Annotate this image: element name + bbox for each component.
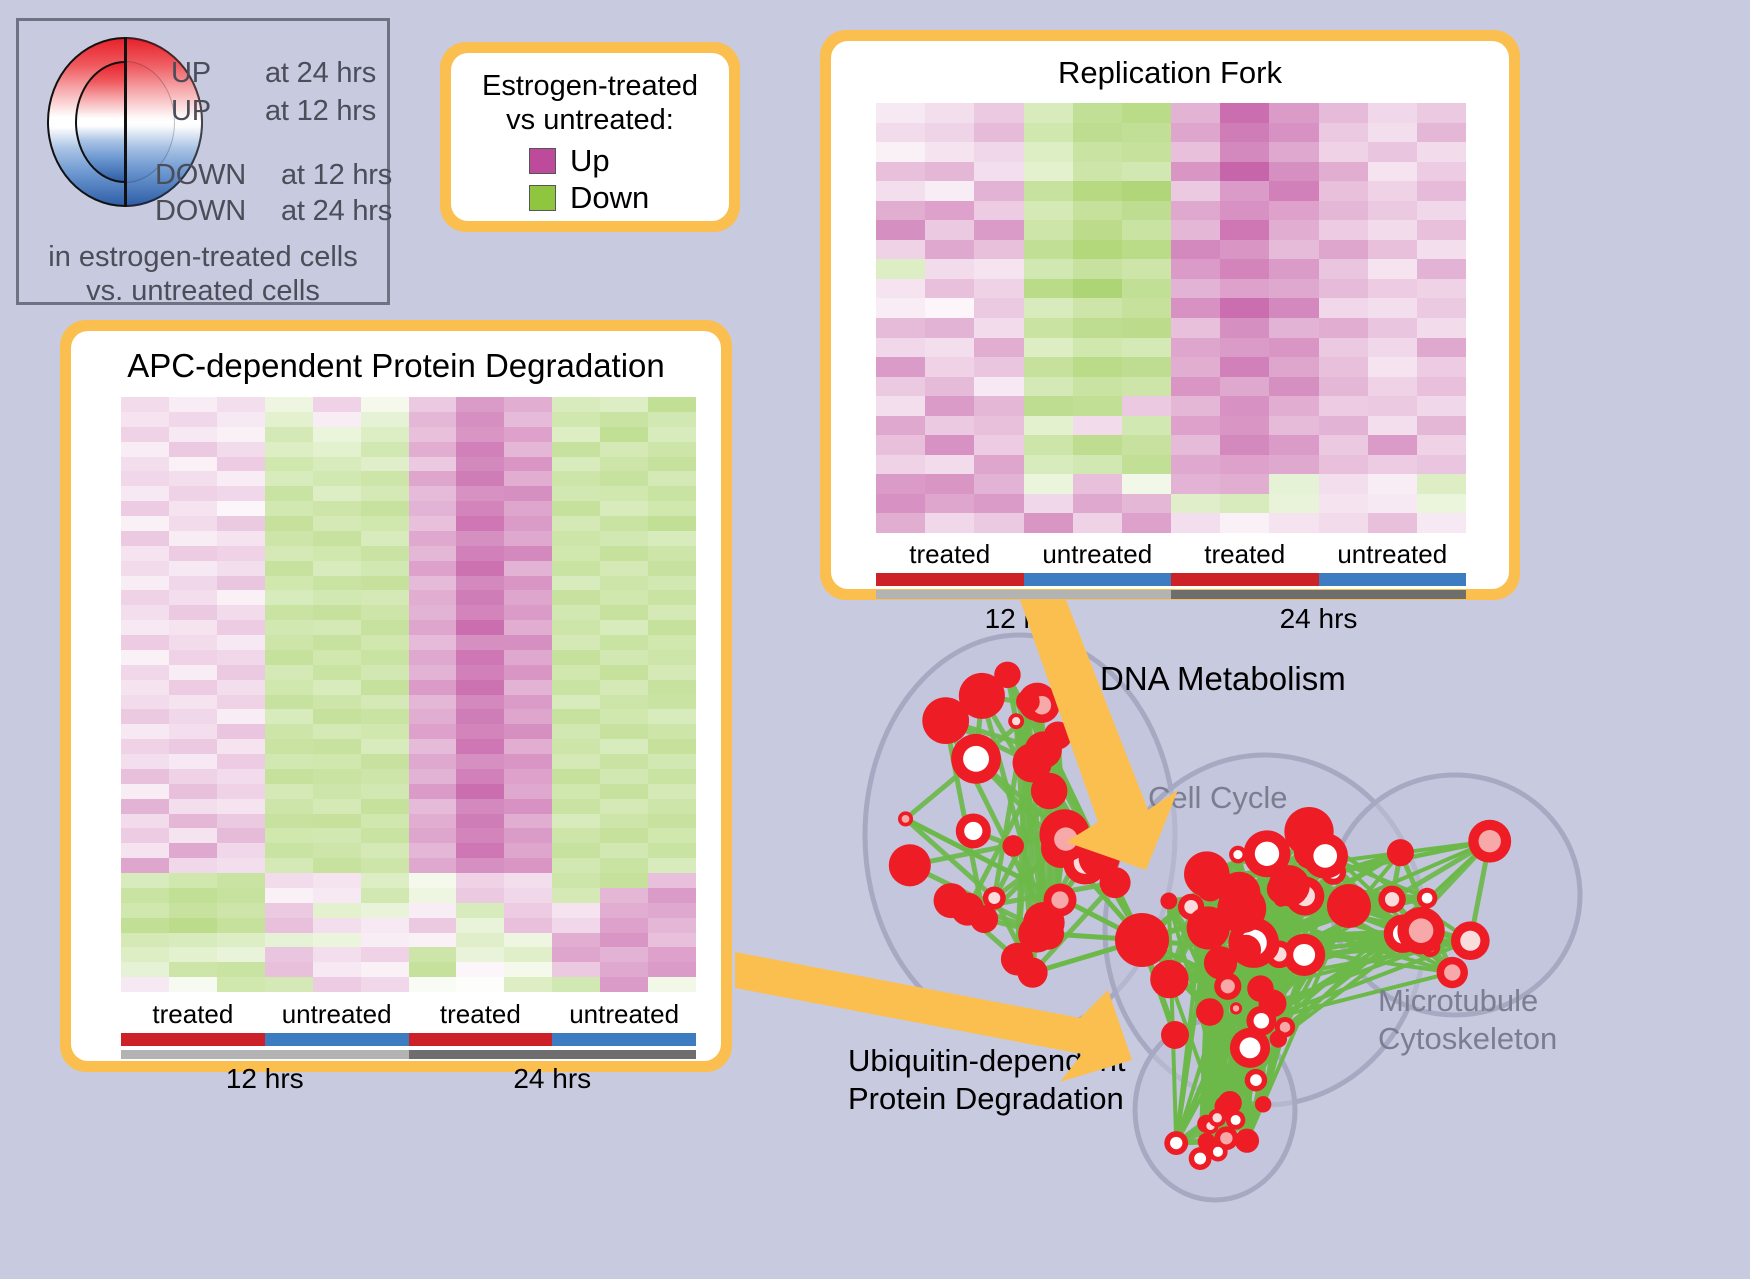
heatmap-cell xyxy=(409,873,457,888)
heatmap-cell xyxy=(552,784,600,799)
heatmap-cell xyxy=(1073,338,1122,358)
heatmap-cell xyxy=(1073,123,1122,143)
heatmap-cell xyxy=(361,665,409,680)
network-node-core xyxy=(1259,1100,1268,1109)
heatmap-cell xyxy=(504,873,552,888)
network-node-core xyxy=(1221,979,1235,993)
heatmap-cell xyxy=(361,724,409,739)
heatmap-cell xyxy=(313,814,361,829)
heatmap-cell xyxy=(648,590,696,605)
heatmap-cell xyxy=(1122,494,1171,514)
heatmap-cell xyxy=(1024,240,1073,260)
network-node-core xyxy=(1040,782,1059,801)
heatmap-cell xyxy=(974,162,1023,182)
heatmap-cell xyxy=(265,680,313,695)
heatmap-cell xyxy=(648,442,696,457)
heatmap-cell xyxy=(600,576,648,591)
heatmap-cell xyxy=(456,471,504,486)
heatmap-cell xyxy=(169,799,217,814)
heatmap-cell xyxy=(361,397,409,412)
heatmap-cell xyxy=(456,635,504,650)
heatmap-cell xyxy=(121,442,169,457)
heatmap-cell xyxy=(925,455,974,475)
heatmap-cell xyxy=(925,220,974,240)
heatmap-cell xyxy=(409,754,457,769)
heatmap-cell xyxy=(121,814,169,829)
heatmap-cell xyxy=(313,397,361,412)
network-node xyxy=(1017,958,1047,988)
heatmap-cell xyxy=(600,471,648,486)
heatmap-cell xyxy=(1122,338,1171,358)
heatmap-cell xyxy=(552,709,600,724)
heatmap-cell xyxy=(974,103,1023,123)
timepoint-labels-apc: 12 hrs 24 hrs xyxy=(121,1063,696,1095)
heatmap-cell xyxy=(504,486,552,501)
heatmap-cell xyxy=(552,873,600,888)
heatmap-cell xyxy=(600,799,648,814)
heatmap-cell xyxy=(648,695,696,710)
heatmap-cell xyxy=(409,962,457,977)
heatmap-cell xyxy=(925,435,974,455)
heatmap-cell xyxy=(121,724,169,739)
heatmap-cell xyxy=(121,650,169,665)
heatmap-cell xyxy=(217,531,265,546)
heatmap-cell xyxy=(169,620,217,635)
heatmap-cell xyxy=(409,427,457,442)
heatmap-cell xyxy=(409,769,457,784)
heatmap-cell xyxy=(265,605,313,620)
updown-legend-title-line2: vs untreated: xyxy=(451,103,729,137)
heatmap-cell xyxy=(600,947,648,962)
heatmap-cell xyxy=(361,947,409,962)
heatmap-cell xyxy=(456,843,504,858)
heatmap-cell xyxy=(361,814,409,829)
heatmap-cell xyxy=(409,516,457,531)
heatmap-cell xyxy=(1269,318,1318,338)
heatmap-cell xyxy=(1319,259,1368,279)
heatmap-cell xyxy=(1024,162,1073,182)
heatmap-cell xyxy=(1220,259,1269,279)
heatmap-cell xyxy=(876,318,925,338)
legend-item-down: Down xyxy=(529,180,729,216)
network-node xyxy=(922,697,969,744)
heatmap-cell xyxy=(361,620,409,635)
heatmap-cell xyxy=(217,501,265,516)
heatmap-cell xyxy=(409,471,457,486)
heatmap-cell xyxy=(552,605,600,620)
heatmap-cell xyxy=(974,435,1023,455)
network-node xyxy=(1274,893,1288,907)
heatmap-cell xyxy=(217,457,265,472)
network-node-core xyxy=(1254,1013,1269,1028)
heatmap-cell xyxy=(600,828,648,843)
heatmap-cell xyxy=(169,412,217,427)
heatmap-cell xyxy=(1368,181,1417,201)
heatmap-cell xyxy=(552,457,600,472)
heatmap-cell xyxy=(1220,396,1269,416)
heatmap-cell xyxy=(1171,259,1220,279)
heatmap-cell xyxy=(504,397,552,412)
heatmap-cell xyxy=(217,427,265,442)
heatmap-cell xyxy=(361,918,409,933)
heatmap-cell xyxy=(313,903,361,918)
heatmap-cell xyxy=(265,516,313,531)
heatmap-cell xyxy=(552,576,600,591)
heatmap-cell xyxy=(1073,181,1122,201)
heatmap-cell xyxy=(456,531,504,546)
network-node-core xyxy=(1054,827,1077,850)
heatmap-cell xyxy=(1171,338,1220,358)
heatmap-cell xyxy=(600,516,648,531)
heatmap-cell xyxy=(1417,201,1466,221)
network-node-core xyxy=(1479,830,1501,852)
heatmap-cell xyxy=(1368,240,1417,260)
heatmap-cell xyxy=(1024,513,1073,533)
heatmap-cell xyxy=(361,784,409,799)
heatmap-cell xyxy=(121,620,169,635)
heatmap-cell xyxy=(265,531,313,546)
heatmap-cell xyxy=(600,858,648,873)
heatmap-cell xyxy=(648,412,696,427)
heatmap-cell xyxy=(925,240,974,260)
heatmap-cell xyxy=(313,531,361,546)
heatmap-cell xyxy=(409,620,457,635)
network-node-core xyxy=(1194,1153,1206,1165)
heatmap-cell xyxy=(217,486,265,501)
heatmap-cell xyxy=(121,888,169,903)
heatmap-cell xyxy=(552,680,600,695)
heatmap-cell xyxy=(1073,259,1122,279)
heatmap-cell xyxy=(1269,162,1318,182)
heatmap-cell xyxy=(217,695,265,710)
network-node-core xyxy=(1255,842,1279,866)
heatmap-cell xyxy=(1319,357,1368,377)
heatmap-cell xyxy=(217,516,265,531)
heatmap-cell xyxy=(876,201,925,221)
heatmap-cell xyxy=(925,142,974,162)
heatmap-cell xyxy=(876,338,925,358)
heatmap-cell xyxy=(409,947,457,962)
heatmap-cell xyxy=(1073,142,1122,162)
heatmap-cell xyxy=(1269,455,1318,475)
heatmap-cell xyxy=(217,442,265,457)
timepoint-color-bar-replication-fork xyxy=(876,590,1466,599)
network-node-core xyxy=(1385,892,1399,906)
heatmap-cell xyxy=(409,605,457,620)
heatmap-cell xyxy=(552,918,600,933)
heatmap-cell xyxy=(313,799,361,814)
network-node-core xyxy=(1337,895,1360,918)
heatmap-cell xyxy=(265,412,313,427)
heatmap-cell xyxy=(552,427,600,442)
network-node-core xyxy=(1012,717,1020,725)
network-node-core xyxy=(1001,668,1015,682)
heatmap-cell xyxy=(169,650,217,665)
heatmap-cell xyxy=(925,416,974,436)
network-node xyxy=(1002,835,1023,856)
heatmap-cell xyxy=(600,546,648,561)
heatmap-cell xyxy=(925,377,974,397)
heatmap-cell xyxy=(313,933,361,948)
heatmap-cell xyxy=(217,858,265,873)
heatmap-cell xyxy=(876,298,925,318)
heatmap-cell xyxy=(361,962,409,977)
heatmap-cell xyxy=(313,962,361,977)
heatmap-cell xyxy=(552,635,600,650)
heatmap-cell xyxy=(313,635,361,650)
heatmap-cell xyxy=(456,888,504,903)
heatmap-cell xyxy=(552,471,600,486)
cluster-label-cell-cycle: Cell Cycle xyxy=(1148,780,1288,816)
heatmap-cell xyxy=(409,501,457,516)
heatmap-cell xyxy=(504,576,552,591)
heatmap-cell xyxy=(1417,494,1466,514)
heatmap-cell xyxy=(265,754,313,769)
ring-divider-line xyxy=(124,37,127,207)
heatmap-cell xyxy=(1171,435,1220,455)
heatmap-cell xyxy=(1024,435,1073,455)
heatmap-cell xyxy=(504,918,552,933)
heatmap-cell xyxy=(169,754,217,769)
heatmap-cell xyxy=(925,201,974,221)
cond-bar-rf-treated-24 xyxy=(1171,573,1319,586)
heatmap-cell xyxy=(1073,474,1122,494)
heatmap-cell xyxy=(1171,123,1220,143)
heatmap-cell xyxy=(1368,220,1417,240)
heatmap-cell xyxy=(600,918,648,933)
heatmap-cell xyxy=(1171,162,1220,182)
heatmap-cell xyxy=(1171,181,1220,201)
updown-legend-panel: Estrogen-treated vs untreated: Up Down xyxy=(440,42,740,232)
heatmap-cell xyxy=(456,665,504,680)
heatmap-cell xyxy=(1269,259,1318,279)
network-node-core xyxy=(1213,1147,1223,1157)
heatmap-cell xyxy=(313,843,361,858)
heatmap-cell xyxy=(313,680,361,695)
heatmap-cell xyxy=(409,650,457,665)
ring-label-down-24: DOWN xyxy=(155,195,246,228)
network-node xyxy=(1196,998,1224,1026)
heatmap-cell xyxy=(169,947,217,962)
heatmap-cell xyxy=(552,843,600,858)
heatmap-cell xyxy=(1122,181,1171,201)
heatmap-cell xyxy=(1171,201,1220,221)
heatmap-cell xyxy=(504,724,552,739)
heatmap-cell xyxy=(1073,494,1122,514)
heatmap-cell xyxy=(217,471,265,486)
cond-bar-apc-untreated-12 xyxy=(265,1033,409,1046)
heatmap-cell xyxy=(1269,123,1318,143)
heatmap-cell xyxy=(600,650,648,665)
heatmap-cell xyxy=(648,814,696,829)
heatmap-cell xyxy=(361,888,409,903)
heatmap-cell xyxy=(121,590,169,605)
network-node-core xyxy=(1233,1005,1239,1011)
heatmap-cell xyxy=(600,888,648,903)
updown-legend-title-line1: Estrogen-treated xyxy=(451,69,729,103)
heatmap-cell xyxy=(361,754,409,769)
heatmap-cell xyxy=(456,724,504,739)
heatmap-cell xyxy=(1319,396,1368,416)
time-bar-apc-24hrs xyxy=(409,1050,697,1059)
heatmap-cell xyxy=(121,843,169,858)
heatmap-cell xyxy=(1073,279,1122,299)
heatmap-cell xyxy=(313,665,361,680)
heatmap-cell xyxy=(265,635,313,650)
pathway-network-diagram xyxy=(790,610,1750,1279)
heatmap-cell xyxy=(925,279,974,299)
heatmap-cell xyxy=(265,888,313,903)
heatmap-cell xyxy=(265,546,313,561)
heatmap-cell xyxy=(265,501,313,516)
heatmap-cell xyxy=(648,828,696,843)
heatmap-cell xyxy=(217,680,265,695)
network-node-core xyxy=(1212,954,1229,971)
heatmap-cell xyxy=(265,442,313,457)
heatmap-cell xyxy=(361,590,409,605)
heatmap-cell xyxy=(1269,494,1318,514)
network-node-core xyxy=(1241,1134,1254,1147)
heatmap-cell xyxy=(1319,201,1368,221)
cond-label-apc-0: treated xyxy=(121,999,265,1030)
heatmap-cell xyxy=(974,201,1023,221)
heatmap-cell xyxy=(217,799,265,814)
network-node-core xyxy=(1422,893,1433,904)
network-node-core xyxy=(1051,891,1068,908)
heatmap-cell xyxy=(1417,513,1466,533)
heatmap-cell xyxy=(925,513,974,533)
heatmap-cell xyxy=(1417,416,1466,436)
heatmap-cell xyxy=(1269,240,1318,260)
heatmap-cell xyxy=(648,769,696,784)
heatmap-cell xyxy=(1220,201,1269,221)
heatmap-cell xyxy=(600,605,648,620)
heatmap-cell xyxy=(1269,103,1318,123)
network-node-core xyxy=(1170,1137,1182,1149)
heatmap-cell xyxy=(504,739,552,754)
heatmap-cell xyxy=(121,576,169,591)
heatmap-cell xyxy=(217,561,265,576)
legend-label-up: Up xyxy=(570,143,610,179)
heatmap-cell xyxy=(1319,474,1368,494)
heatmap-cell xyxy=(648,918,696,933)
heatmap-cell xyxy=(1417,377,1466,397)
heatmap-cell xyxy=(456,709,504,724)
heatmap-cell xyxy=(265,695,313,710)
heatmap-cell xyxy=(169,814,217,829)
network-node-core xyxy=(1293,944,1315,966)
heatmap-cell xyxy=(1269,435,1318,455)
heatmap-cell xyxy=(313,977,361,992)
heatmap-cell xyxy=(456,962,504,977)
heatmap-cell xyxy=(1220,240,1269,260)
heatmap-cell xyxy=(1073,435,1122,455)
heatmap-cell xyxy=(552,947,600,962)
cluster-label-microtubule-cytoskeleton: Microtubule Cytoskeleton xyxy=(1378,982,1557,1058)
heatmap-cell xyxy=(265,665,313,680)
heatmap-cell xyxy=(552,933,600,948)
cond-bar-apc-treated-24 xyxy=(409,1033,553,1046)
network-node-core xyxy=(1240,1037,1261,1058)
time-label-apc-24hrs: 24 hrs xyxy=(409,1063,697,1095)
heatmap-cell xyxy=(409,531,457,546)
heatmap-cell xyxy=(552,888,600,903)
heatmap-cell xyxy=(648,605,696,620)
heatmap-cell xyxy=(217,873,265,888)
heatmap-cell xyxy=(974,396,1023,416)
heatmap-cell xyxy=(552,412,600,427)
heatmap-cell xyxy=(1220,279,1269,299)
updown-legend-title: Estrogen-treated vs untreated: xyxy=(451,69,729,137)
heatmap-cell xyxy=(121,799,169,814)
heatmap-cell xyxy=(313,471,361,486)
cluster-label-mt-line1: Microtubule xyxy=(1378,982,1557,1020)
heatmap-cell xyxy=(169,709,217,724)
heatmap-cell xyxy=(456,427,504,442)
heatmap-cell xyxy=(169,442,217,457)
heatmap-cell xyxy=(1171,103,1220,123)
heatmap-cell xyxy=(504,620,552,635)
heatmap-cell xyxy=(1073,455,1122,475)
heatmap-cell xyxy=(552,516,600,531)
heatmap-cell xyxy=(121,605,169,620)
heatmap-cell xyxy=(925,318,974,338)
heatmap-cell xyxy=(1220,357,1269,377)
heatmap-cell xyxy=(1122,298,1171,318)
heatmap-cell xyxy=(1024,377,1073,397)
heatmap-cell xyxy=(265,843,313,858)
heatmap-cell xyxy=(1122,259,1171,279)
heatmap-cell xyxy=(552,546,600,561)
heatmap-cell xyxy=(121,709,169,724)
heatmap-cell xyxy=(169,784,217,799)
heatmap-cell xyxy=(169,561,217,576)
heatmap-cell xyxy=(600,427,648,442)
heatmap-cell xyxy=(1220,298,1269,318)
heatmap-cell xyxy=(600,457,648,472)
network-node-core xyxy=(1460,931,1480,951)
network-node-core xyxy=(1409,918,1434,943)
heatmap-cell xyxy=(1024,103,1073,123)
heatmap-cell xyxy=(876,279,925,299)
heatmap-cell xyxy=(648,784,696,799)
heatmap-cell xyxy=(552,828,600,843)
heatmap-cell xyxy=(169,501,217,516)
network-svg xyxy=(790,610,1750,1279)
heatmap-cell xyxy=(361,442,409,457)
heatmap-cell xyxy=(217,650,265,665)
heatmap-cell xyxy=(313,709,361,724)
heatmap-cell xyxy=(1319,494,1368,514)
heatmap-cell xyxy=(1122,455,1171,475)
heatmap-cell xyxy=(169,427,217,442)
heatmap-cell xyxy=(504,665,552,680)
heatmap-cell xyxy=(169,962,217,977)
heatmap-cell xyxy=(361,531,409,546)
heatmap-cell xyxy=(648,576,696,591)
heatmap-cell xyxy=(121,486,169,501)
heatmap-cell xyxy=(456,576,504,591)
heatmap-cell xyxy=(925,123,974,143)
heatmap-cell xyxy=(456,397,504,412)
heatmap-cell xyxy=(456,412,504,427)
heatmap-cell xyxy=(169,739,217,754)
heatmap-cell xyxy=(169,843,217,858)
heatmap-cell xyxy=(169,680,217,695)
heatmap-cell xyxy=(217,784,265,799)
heatmap-cell xyxy=(313,828,361,843)
heatmap-cell xyxy=(1368,298,1417,318)
